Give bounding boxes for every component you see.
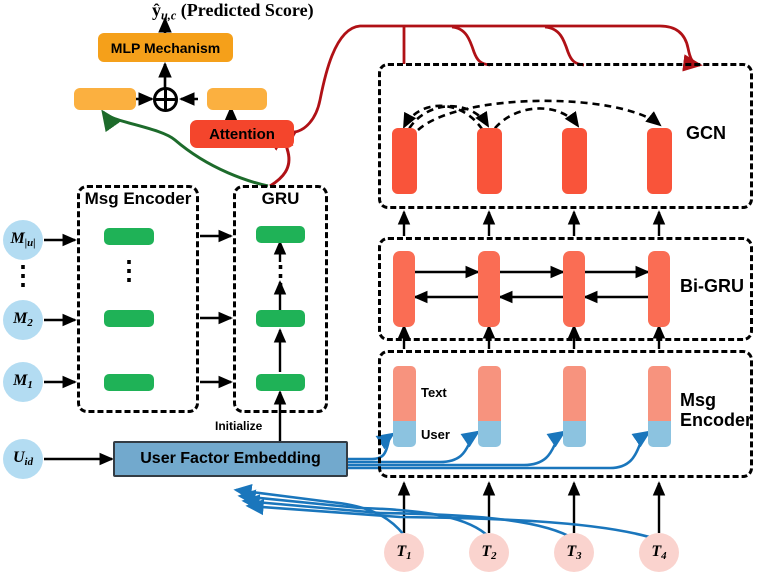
bigru-label: Bi-GRU — [680, 277, 760, 297]
left-msg-encoder-label: Msg Encoder — [77, 190, 199, 209]
right-context-vector[interactable] — [207, 88, 267, 110]
time-circle-1: T1 — [384, 533, 424, 572]
msg-text-block-4 — [648, 366, 671, 421]
architecture-diagram: ŷu,c (Predicted Score) MLP Mechanism Att… — [0, 0, 769, 572]
gru-cell-1 — [256, 374, 305, 391]
left-context-vector[interactable] — [74, 88, 136, 110]
gru-label: GRU — [233, 190, 328, 209]
msg-text-block-2 — [478, 366, 501, 421]
input-circle-m-2-label: M2 — [13, 310, 33, 329]
input-circle-m-1-label: M1 — [13, 372, 33, 391]
gru-cell-3 — [256, 226, 305, 243]
user-factor-embedding-label: User Factor Embedding — [140, 450, 320, 468]
arrows-time-to-ufe — [236, 490, 659, 540]
msg-text-block-1 — [393, 366, 416, 421]
time-circle-3-label: T3 — [566, 543, 581, 562]
bigru-node-3 — [563, 251, 585, 327]
msg-text-block-3 — [563, 366, 586, 421]
page-title: ŷu,c (Predicted Score) — [152, 0, 314, 23]
msg-encoder-cell-2 — [104, 310, 154, 327]
mlp-mechanism-box[interactable]: MLP Mechanism — [98, 33, 233, 62]
initialize-label: Initialize — [215, 419, 262, 433]
msg-user-block-2 — [478, 421, 501, 447]
user-factor-embedding-box[interactable]: User Factor Embedding — [113, 441, 348, 477]
output-symbol: ŷ — [152, 0, 161, 20]
plus-circle-icon — [152, 86, 179, 113]
output-caption: (Predicted Score) — [181, 0, 314, 20]
msg-encoder-ellipsis: ⋮ — [104, 263, 154, 277]
time-circle-2: T2 — [469, 533, 509, 572]
mlp-mechanism-label: MLP Mechanism — [111, 40, 220, 56]
gcn-node-4 — [647, 128, 672, 194]
text-block-label: Text — [421, 385, 447, 400]
msg-user-block-4 — [648, 421, 671, 447]
gru-ellipsis: ⋮ — [256, 268, 305, 282]
time-circle-1-label: T1 — [396, 543, 411, 562]
user-block-label: User — [421, 427, 450, 442]
gcn-node-2 — [477, 128, 502, 194]
gcn-node-1 — [392, 128, 417, 194]
bigru-node-1 — [393, 251, 415, 327]
msg-encoder-cell-3 — [104, 228, 154, 245]
time-circle-2-label: T2 — [481, 543, 496, 562]
input-circle-m-2: M2 — [3, 300, 43, 340]
output-subscript: u,c — [161, 8, 176, 22]
right-msg-encoder-label: Msg Encoder — [680, 391, 766, 431]
input-circle-uid-label: Uid — [13, 449, 33, 468]
bigru-node-4 — [648, 251, 670, 327]
msg-encoder-cell-1 — [104, 374, 154, 391]
msg-user-block-3 — [563, 421, 586, 447]
time-circle-3: T3 — [554, 533, 594, 572]
attention-label: Attention — [209, 126, 275, 143]
msg-user-block-1 — [393, 421, 416, 447]
time-circle-4-label: T4 — [651, 543, 666, 562]
input-circle-uid: Uid — [3, 439, 43, 479]
input-circle-m-1: M1 — [3, 362, 43, 402]
arrows-bigru-to-gcn — [404, 212, 659, 236]
input-circles-ellipsis: ⋮ — [3, 268, 43, 282]
input-circle-m-u: M|u| — [3, 220, 43, 260]
gru-cell-2 — [256, 310, 305, 327]
bigru-node-2 — [478, 251, 500, 327]
gcn-node-3 — [562, 128, 587, 194]
time-circle-4: T4 — [639, 533, 679, 572]
gcn-label: GCN — [686, 124, 750, 144]
input-circle-m-u-label: M|u| — [10, 230, 35, 249]
attention-box[interactable]: Attention — [190, 120, 294, 148]
